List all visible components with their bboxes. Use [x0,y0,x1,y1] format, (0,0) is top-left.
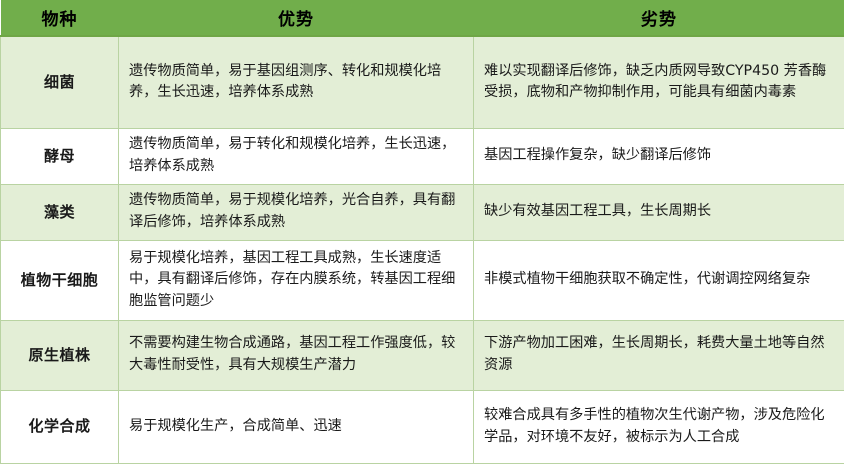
table-header: 物种 优势 劣势 [1,0,844,36]
advantage-text: 遗传物质简单，易于基因组测序、转化和规模化培养，生长迅速，培养体系成熟 [129,61,464,104]
cell-disadvantage: 基因工程操作复杂，缺少翻译后修饰 [474,128,844,184]
table-header-row: 物种 优势 劣势 [1,0,844,36]
cell-disadvantage: 下游产物加工困难，生长周期长，耗费大量土地等自然资源 [474,320,844,390]
column-header-advantage: 优势 [119,0,474,36]
disadvantage-text: 缺少有效基因工程工具，生长周期长 [484,201,835,223]
cell-advantage: 易于规模化培养，基因工程工具成熟，生长速度适中，具有翻译后修饰，存在内膜系统，转… [119,240,474,320]
cell-advantage: 不需要构建生物合成通路，基因工程工作强度低，较大毒性耐受性，具有大规模生产潜力 [119,320,474,390]
column-header-species: 物种 [1,0,119,36]
cell-species: 化学合成 [1,390,119,463]
cell-species: 藻类 [1,184,119,240]
comparison-table-container: 物种 优势 劣势 细菌 遗传物质简单，易于基因组测序、转化和规模化培养，生长迅速… [0,0,844,462]
cell-disadvantage: 缺少有效基因工程工具，生长周期长 [474,184,844,240]
disadvantage-text: 基因工程操作复杂，缺少翻译后修饰 [484,145,835,167]
table-row: 原生植株 不需要构建生物合成通路，基因工程工作强度低，较大毒性耐受性，具有大规模… [1,320,844,390]
cell-disadvantage: 较难合成具有多手性的植物次生代谢产物，涉及危险化学品，对环境不友好，被标示为人工… [474,390,844,463]
table-row: 植物干细胞 易于规模化培养，基因工程工具成熟，生长速度适中，具有翻译后修饰，存在… [1,240,844,320]
cell-advantage: 遗传物质简单，易于基因组测序、转化和规模化培养，生长迅速，培养体系成熟 [119,36,474,128]
cell-species: 原生植株 [1,320,119,390]
species-label: 藻类 [3,201,116,224]
column-header-disadvantage: 劣势 [474,0,844,36]
advantage-text: 易于规模化生产，合成简单、迅速 [129,416,464,438]
disadvantage-text: 非模式植物干细胞获取不确定性，代谢调控网络复杂 [484,269,835,291]
species-comparison-table: 物种 优势 劣势 细菌 遗传物质简单，易于基因组测序、转化和规模化培养，生长迅速… [0,0,844,464]
species-label: 植物干细胞 [3,269,116,292]
species-label: 原生植株 [3,344,116,367]
advantage-text: 遗传物质简单，易于规模化培养，光合自养，具有翻译后修饰，培养体系成熟 [129,190,464,233]
cell-disadvantage: 难以实现翻译后修饰，缺乏内质网导致CYP450 芳香酶受损，底物和产物抑制作用，… [474,36,844,128]
table-row: 细菌 遗传物质简单，易于基因组测序、转化和规模化培养，生长迅速，培养体系成熟 难… [1,36,844,128]
table-body: 细菌 遗传物质简单，易于基因组测序、转化和规模化培养，生长迅速，培养体系成熟 难… [1,36,844,463]
advantage-text: 不需要构建生物合成通路，基因工程工作强度低，较大毒性耐受性，具有大规模生产潜力 [129,333,464,376]
species-label: 酵母 [3,145,116,168]
advantage-text: 易于规模化培养，基因工程工具成熟，生长速度适中，具有翻译后修饰，存在内膜系统，转… [129,248,464,313]
cell-species: 细菌 [1,36,119,128]
table-row: 酵母 遗传物质简单，易于转化和规模化培养，生长迅速，培养体系成熟 基因工程操作复… [1,128,844,184]
cell-advantage: 遗传物质简单，易于转化和规模化培养，生长迅速，培养体系成熟 [119,128,474,184]
cell-advantage: 遗传物质简单，易于规模化培养，光合自养，具有翻译后修饰，培养体系成熟 [119,184,474,240]
species-label: 化学合成 [3,415,116,438]
disadvantage-text: 较难合成具有多手性的植物次生代谢产物，涉及危险化学品，对环境不友好，被标示为人工… [484,405,835,448]
table-row: 藻类 遗传物质简单，易于规模化培养，光合自养，具有翻译后修饰，培养体系成熟 缺少… [1,184,844,240]
advantage-text: 遗传物质简单，易于转化和规模化培养，生长迅速，培养体系成熟 [129,134,464,177]
cell-disadvantage: 非模式植物干细胞获取不确定性，代谢调控网络复杂 [474,240,844,320]
cell-species: 酵母 [1,128,119,184]
cell-species: 植物干细胞 [1,240,119,320]
cell-advantage: 易于规模化生产，合成简单、迅速 [119,390,474,463]
table-row: 化学合成 易于规模化生产，合成简单、迅速 较难合成具有多手性的植物次生代谢产物，… [1,390,844,463]
disadvantage-text: 下游产物加工困难，生长周期长，耗费大量土地等自然资源 [484,333,835,376]
species-label: 细菌 [3,71,116,94]
disadvantage-text: 难以实现翻译后修饰，缺乏内质网导致CYP450 芳香酶受损，底物和产物抑制作用，… [484,61,835,104]
